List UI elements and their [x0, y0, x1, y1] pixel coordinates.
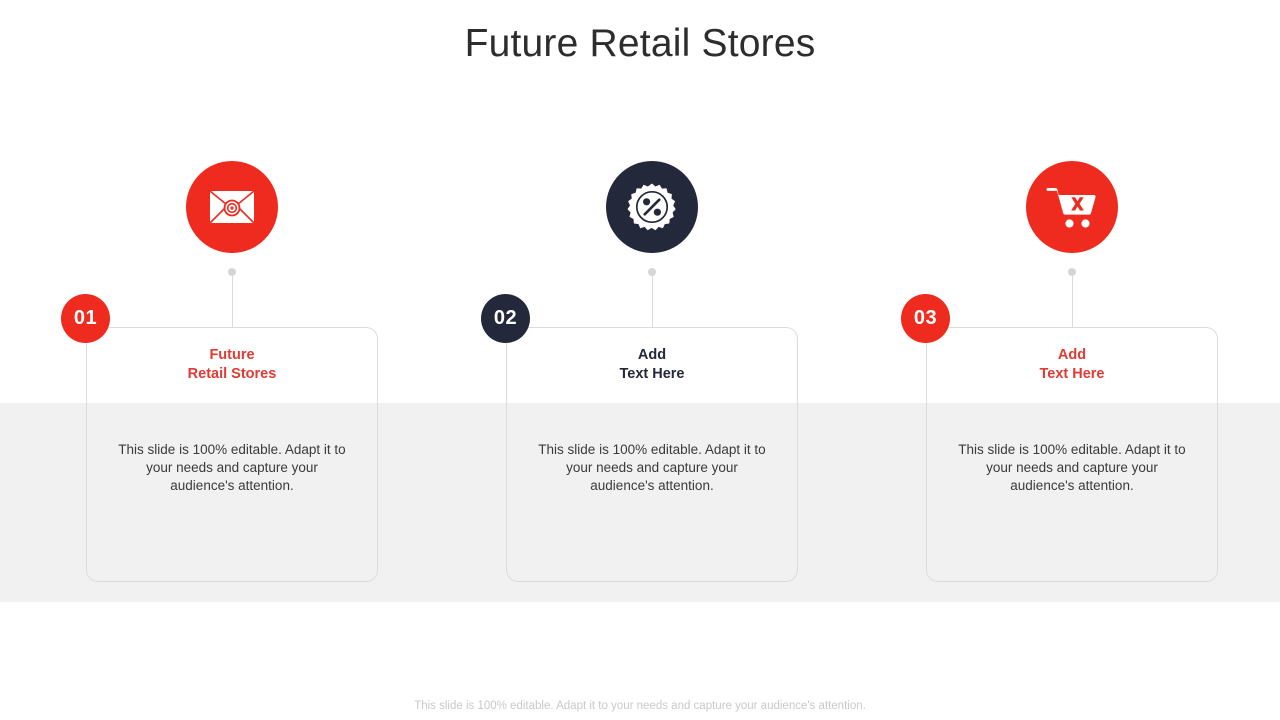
card-heading-line1-1: Future — [209, 347, 254, 363]
footer-note: This slide is 100% editable. Adapt it to… — [0, 700, 1280, 712]
card-body-2: This slide is 100% editable. Adapt it to… — [536, 441, 768, 494]
connector-line-3 — [1072, 276, 1073, 328]
slide-canvas: Future Retail Stores 01 Future Retail St… — [0, 0, 1280, 720]
card-heading-line2-3: Text Here — [1039, 366, 1104, 382]
card-heading-line2-1: Retail Stores — [188, 366, 277, 382]
connector-dot-2 — [648, 268, 656, 276]
card-heading-2: Add Text Here — [506, 346, 798, 384]
connector-line-2 — [652, 276, 653, 328]
connector-line-1 — [232, 276, 233, 328]
connector-dot-3 — [1068, 268, 1076, 276]
card-heading-1: Future Retail Stores — [86, 346, 378, 384]
content-column-1: 01 Future Retail Stores This slide is 10… — [22, 0, 442, 720]
discount-percent-badge-icon — [606, 161, 698, 253]
content-column-2: 02 Add Text Here This slide is 100% edit… — [442, 0, 862, 720]
card-heading-line1-2: Add — [638, 347, 666, 363]
card-heading-3: Add Text Here — [926, 346, 1218, 384]
content-column-3: 03 Add Text Here This slide is 100% edit… — [862, 0, 1280, 720]
card-heading-line2-2: Text Here — [619, 366, 684, 382]
card-heading-line1-3: Add — [1058, 347, 1086, 363]
shopping-cart-x-icon — [1026, 161, 1118, 253]
card-body-1: This slide is 100% editable. Adapt it to… — [116, 441, 348, 494]
step-number-badge-3[interactable]: 03 — [901, 294, 950, 343]
connector-dot-1 — [228, 268, 236, 276]
card-body-3: This slide is 100% editable. Adapt it to… — [956, 441, 1188, 494]
envelope-seal-icon — [186, 161, 278, 253]
step-number-badge-2[interactable]: 02 — [481, 294, 530, 343]
step-number-badge-1[interactable]: 01 — [61, 294, 110, 343]
